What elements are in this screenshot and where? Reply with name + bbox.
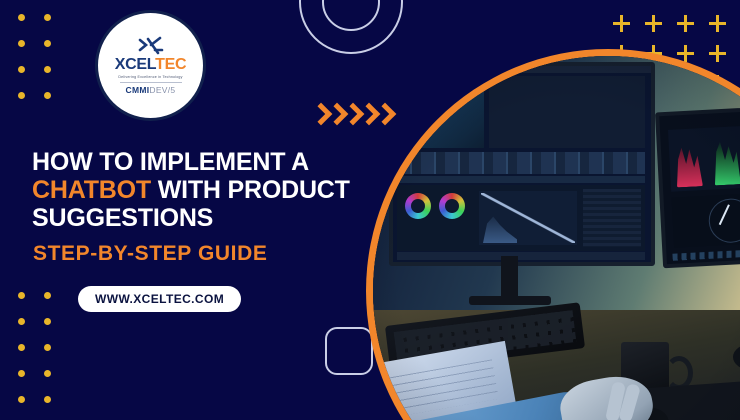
rounded-square-outline xyxy=(325,327,373,375)
decorative-dot xyxy=(8,386,34,412)
logo-wordmark: XCELTEC xyxy=(115,57,186,73)
decorative-dot xyxy=(8,334,34,360)
decorative-dot xyxy=(34,30,60,56)
hero-photo xyxy=(373,56,740,420)
decorative-dot xyxy=(8,282,34,308)
cmmi-certification-badge: CMMIDEV/5 xyxy=(126,85,176,95)
decorative-dot xyxy=(8,4,34,30)
plus-sign-icon xyxy=(605,8,637,38)
decorative-dot xyxy=(34,360,60,386)
plus-sign-icon xyxy=(669,8,701,38)
decorative-dot xyxy=(8,308,34,334)
headline-accent-word: CHATBOT xyxy=(32,176,151,204)
cmmi-label-light: DEV/5 xyxy=(149,85,175,95)
logo-tagline: Delivering Excellence in Technology xyxy=(118,75,182,79)
headline-line-2-rest: WITH PRODUCT xyxy=(151,176,350,204)
workstation-photo xyxy=(373,56,740,420)
decorative-dot xyxy=(34,412,60,420)
cmmi-label-bold: CMMI xyxy=(126,85,150,95)
xceltec-mark-icon xyxy=(138,36,164,56)
plus-sign-icon xyxy=(637,8,669,38)
decorative-dot xyxy=(34,82,60,108)
decorative-dot xyxy=(34,386,60,412)
headline-line-1: HOW TO IMPLEMENT A xyxy=(32,148,309,176)
decorative-dot xyxy=(8,82,34,108)
promo-banner: XCELTEC Delivering Excellence in Technol… xyxy=(0,0,740,420)
decorative-dot xyxy=(8,412,34,420)
chevron-right-icon xyxy=(312,103,326,129)
headline-line-3: SUGGESTIONS xyxy=(32,204,213,232)
decorative-dot xyxy=(8,360,34,386)
photo-vignette xyxy=(373,56,740,420)
plus-sign-icon xyxy=(701,8,733,38)
headline: HOW TO IMPLEMENT A CHATBOT WITH PRODUCT … xyxy=(32,148,372,232)
decorative-dot xyxy=(8,56,34,82)
logo-word-accent: TEC xyxy=(155,56,186,73)
logo-divider xyxy=(120,82,182,83)
dot-grid-bottom-left xyxy=(8,282,60,420)
decorative-dot xyxy=(34,282,60,308)
decorative-dot xyxy=(8,30,34,56)
subtitle: STEP-BY-STEP GUIDE xyxy=(33,242,267,266)
chevron-right-icon xyxy=(344,103,358,129)
decorative-dot xyxy=(34,308,60,334)
plus-sign-icon xyxy=(733,8,740,38)
chevron-right-icon xyxy=(328,103,342,129)
logo-word-primary: XCEL xyxy=(115,56,155,73)
chevron-right-icon xyxy=(360,103,374,129)
website-url-badge[interactable]: WWW.XCELTEC.COM xyxy=(78,286,241,312)
xceltec-logo[interactable]: XCELTEC Delivering Excellence in Technol… xyxy=(98,13,203,118)
decorative-dot xyxy=(34,4,60,30)
decorative-dot xyxy=(34,334,60,360)
decorative-dot xyxy=(34,56,60,82)
dot-grid-top-left xyxy=(8,4,60,108)
